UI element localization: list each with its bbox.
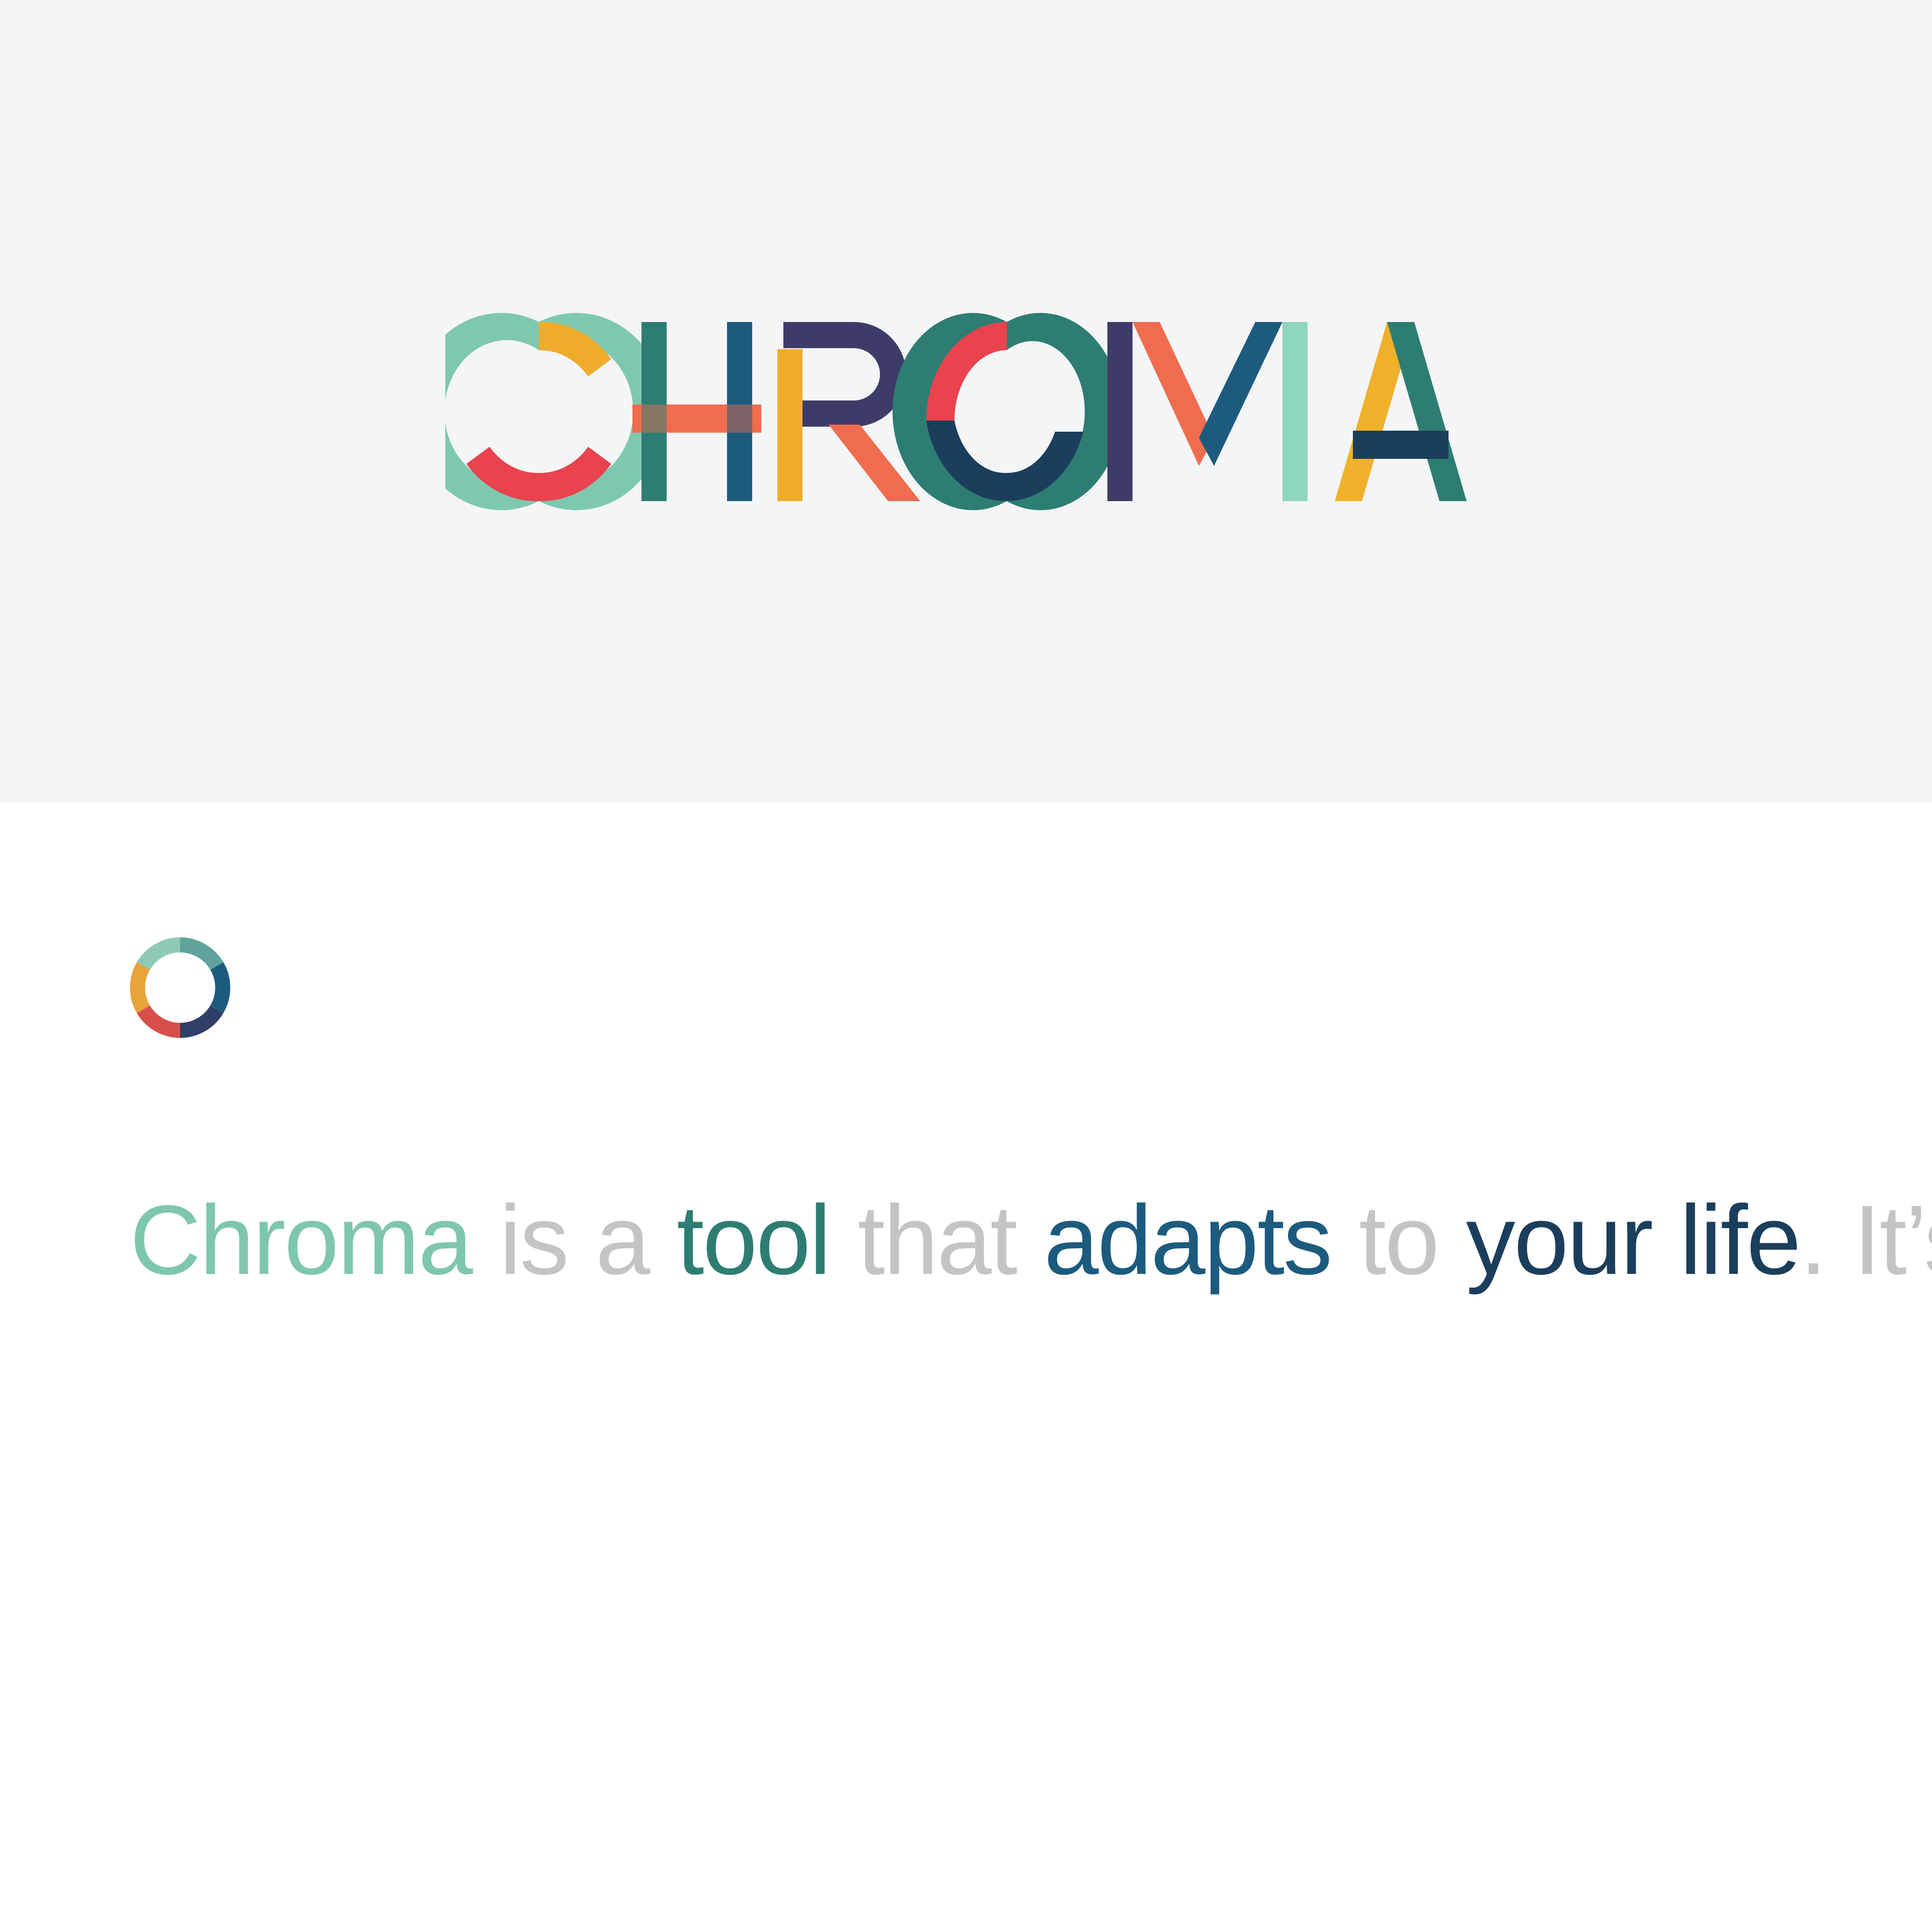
logo-letter-h xyxy=(632,322,761,501)
ring-segment-red xyxy=(143,1009,180,1030)
statement-token: Chroma xyxy=(130,1185,471,1295)
ring-segment-teal xyxy=(180,945,217,966)
chroma-wordmark-logo xyxy=(445,306,1487,517)
statement-token: your life xyxy=(1466,1185,1800,1295)
logo-letter-m xyxy=(1107,322,1308,501)
statement-token: is a xyxy=(471,1185,677,1295)
ring-segment-amber xyxy=(137,966,143,1009)
page-root: Chroma is a tool that adapts to your lif… xyxy=(0,0,1932,1932)
hero-band xyxy=(0,0,1932,802)
statement-token: that xyxy=(830,1185,1044,1295)
brand-statement: Chroma is a tool that adapts to your lif… xyxy=(130,1180,1840,1300)
ring-segment-steel xyxy=(217,966,223,1009)
body-section: Chroma is a tool that adapts to your lif… xyxy=(0,802,1932,1932)
logo-letter-a xyxy=(1335,322,1467,501)
statement-token: adapts xyxy=(1044,1185,1331,1295)
statement-token: tool xyxy=(677,1185,830,1295)
chroma-ring-icon xyxy=(130,937,230,1038)
statement-token: . It’s an xyxy=(1800,1185,1932,1295)
logo-letter-o xyxy=(893,312,1121,510)
ring-segment-mint xyxy=(143,945,180,966)
statement-token: to xyxy=(1331,1185,1466,1295)
ring-segment-navy xyxy=(180,1009,217,1030)
